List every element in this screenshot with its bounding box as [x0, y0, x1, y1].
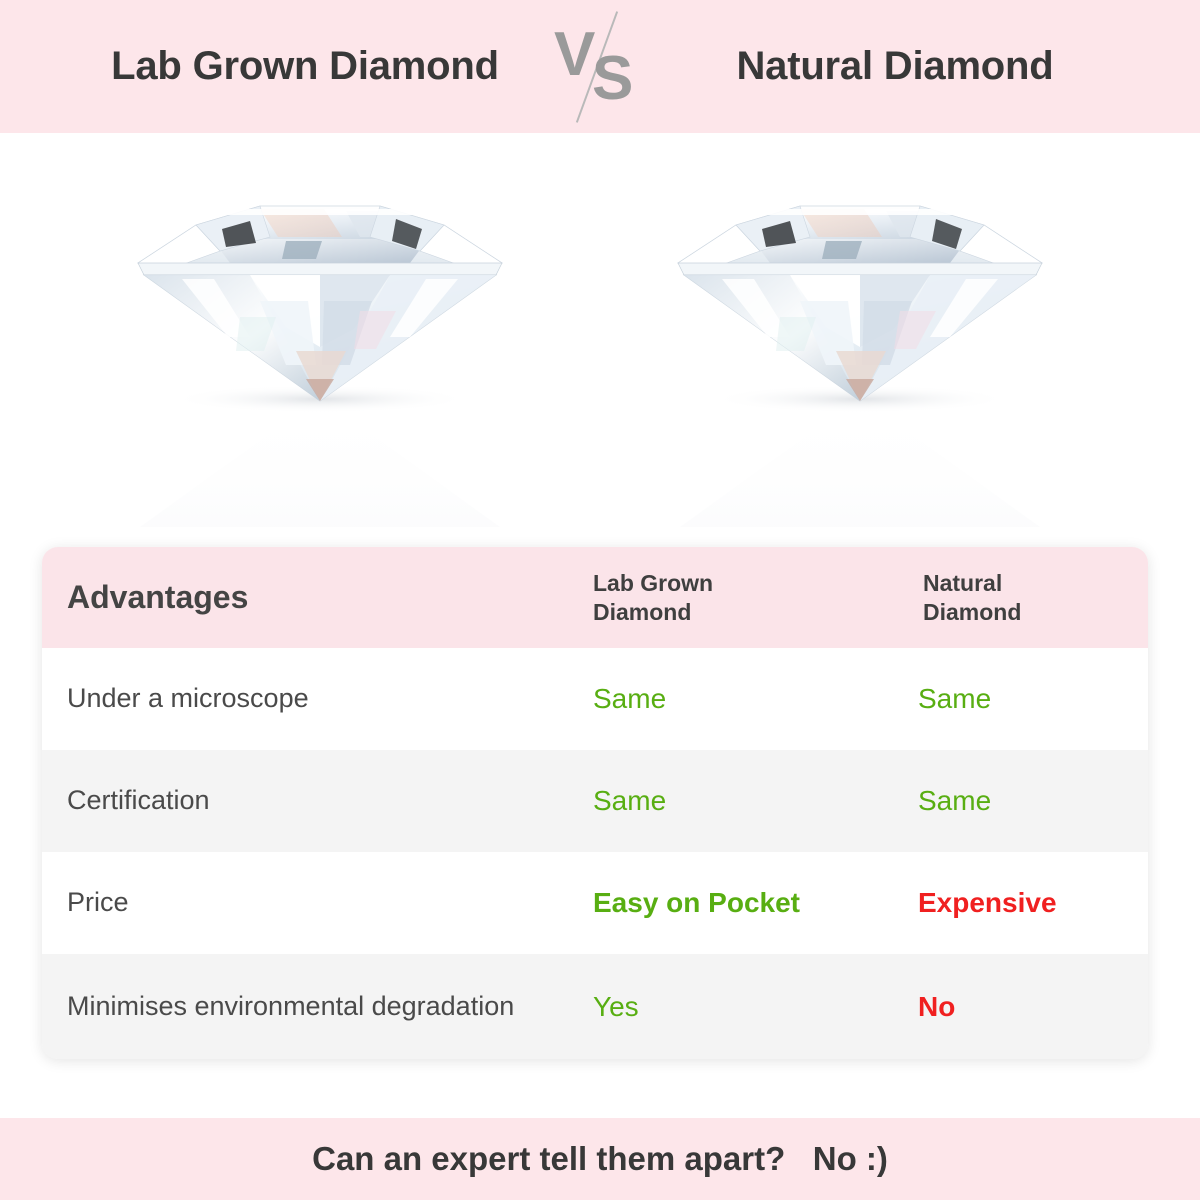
- row-feature-cell: Minimises environmental degradation: [42, 990, 543, 1024]
- bottom-question-banner: Can an expert tell them apart? No :): [0, 1118, 1200, 1200]
- header-label-lab-grown-line2: Diamond: [593, 598, 873, 627]
- row-lab-cell: Same: [543, 784, 873, 818]
- row-lab-cell: Easy on Pocket: [543, 886, 873, 920]
- row-lab-cell: Same: [543, 682, 873, 716]
- row-lab-value: Easy on Pocket: [593, 887, 800, 918]
- header-label-natural-line2: Diamond: [923, 598, 1148, 627]
- row-natural-value: Same: [918, 683, 991, 714]
- row-natural-value: Expensive: [918, 887, 1057, 918]
- row-lab-value: Same: [593, 683, 666, 714]
- top-title-banner: Lab Grown Diamond V S Natural Diamond: [0, 0, 1200, 133]
- natural-diamond-title: Natural Diamond: [660, 44, 1130, 89]
- row-feature-label: Minimises environmental degradation: [67, 991, 514, 1021]
- diamond-illustration: [650, 151, 1070, 531]
- diamond-photo-area: [0, 133, 1200, 533]
- lab-grown-diamond-title: Lab Grown Diamond: [70, 44, 540, 89]
- row-feature-cell: Under a microscope: [42, 682, 543, 716]
- header-label-advantages: Advantages: [67, 579, 248, 615]
- row-feature-cell: Price: [42, 886, 543, 920]
- header-label-natural-line1: Natural: [923, 569, 1148, 598]
- row-feature-cell: Certification: [42, 784, 543, 818]
- row-natural-value: Same: [918, 785, 991, 816]
- row-natural-cell: Same: [873, 784, 1148, 818]
- row-natural-cell: No: [873, 990, 1148, 1024]
- header-label-lab-grown: Lab Grown Diamond: [593, 569, 873, 627]
- row-natural-cell: Expensive: [873, 886, 1148, 920]
- diamond-illustration: [110, 151, 530, 531]
- table-row: Certification Same Same: [42, 750, 1148, 852]
- row-lab-cell: Yes: [543, 990, 873, 1024]
- row-lab-value: Same: [593, 785, 666, 816]
- row-lab-value: Yes: [593, 991, 639, 1022]
- versus-v-letter: V: [554, 24, 595, 86]
- table-row: Price Easy on Pocket Expensive: [42, 852, 1148, 954]
- versus-badge: V S: [540, 0, 660, 133]
- header-label-natural: Natural Diamond: [918, 569, 1148, 627]
- lab-grown-diamond-image: [110, 151, 530, 531]
- versus-s-letter: S: [592, 48, 633, 110]
- natural-diamond-image: [650, 151, 1070, 531]
- row-feature-label: Price: [67, 887, 129, 917]
- bottom-question-text: Can an expert tell them apart? No :): [312, 1140, 888, 1178]
- comparison-table-card: Advantages Lab Grown Diamond Natural Dia…: [42, 547, 1148, 1059]
- row-natural-cell: Same: [873, 682, 1148, 716]
- row-natural-value: No: [918, 991, 955, 1022]
- row-feature-label: Under a microscope: [67, 683, 309, 713]
- row-feature-label: Certification: [67, 785, 210, 815]
- header-cell-lab-grown: Lab Grown Diamond: [543, 569, 873, 627]
- table-header-row: Advantages Lab Grown Diamond Natural Dia…: [42, 547, 1148, 648]
- header-label-lab-grown-line1: Lab Grown: [593, 569, 873, 598]
- header-cell-advantages: Advantages: [42, 579, 543, 616]
- table-row: Minimises environmental degradation Yes …: [42, 954, 1148, 1059]
- header-cell-natural: Natural Diamond: [873, 569, 1148, 627]
- table-row: Under a microscope Same Same: [42, 648, 1148, 750]
